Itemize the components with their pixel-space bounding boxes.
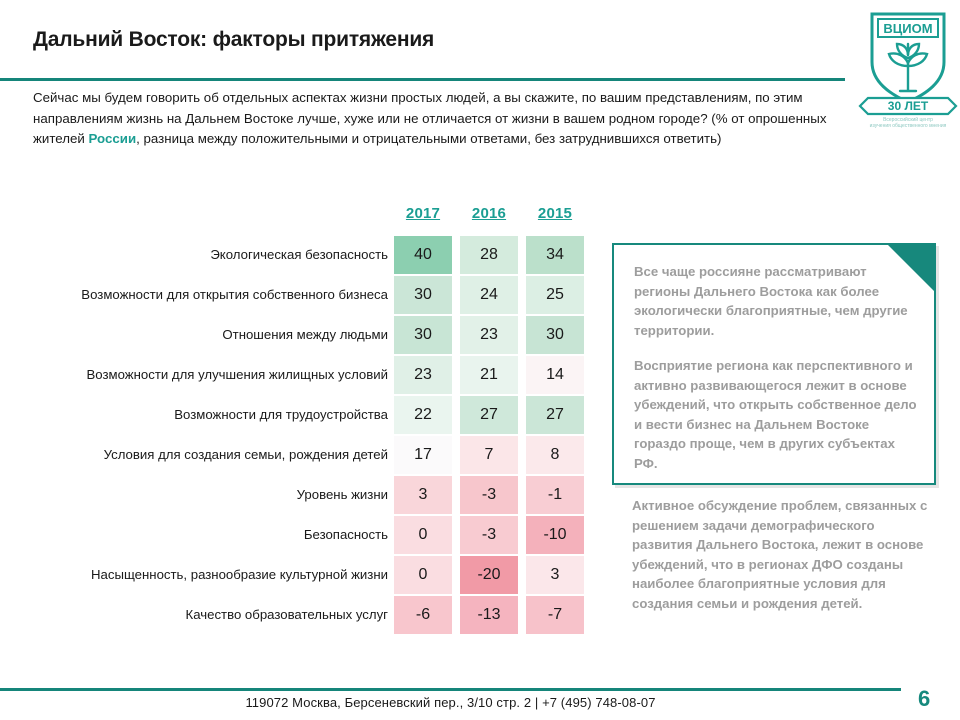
table-row: Уровень жизни3-3-1 [33, 475, 573, 515]
table-row-label: Безопасность [304, 515, 388, 555]
table-cell: 27 [460, 396, 518, 434]
subtitle-part2: , разница между положительными и отрицат… [136, 131, 721, 146]
table-cell: -3 [460, 516, 518, 554]
table-row-label: Уровень жизни [297, 475, 388, 515]
table-cell: -1 [526, 476, 584, 514]
vciom-logo: ВЦИОМ 30 ЛЕТ Всероссийский центр изучени… [858, 6, 958, 128]
table-cell: -7 [526, 596, 584, 634]
table-cell: 3 [394, 476, 452, 514]
insight-callout-box: Все чаще россияне рассматривают регионы … [612, 243, 936, 485]
table-row: Возможности для улучшения жилищных услов… [33, 355, 573, 395]
page-number: 6 [918, 686, 930, 712]
secondary-note-text: Активное обсуждение проблем, связанных с… [632, 496, 932, 613]
table-row-label: Возможности для трудоустройства [174, 395, 388, 435]
footer-divider [0, 688, 901, 691]
table-cell: -6 [394, 596, 452, 634]
table-cell: 3 [526, 556, 584, 594]
table-cell: 24 [460, 276, 518, 314]
table-cell: 21 [460, 356, 518, 394]
table-row-label: Качество образовательных услуг [186, 595, 388, 635]
table-cell: 23 [394, 356, 452, 394]
callout-paragraph: Восприятие региона как перспективного и … [634, 356, 920, 473]
table-cell: 34 [526, 236, 584, 274]
table-row: Возможности для трудоустройства222727 [33, 395, 573, 435]
table-row: Насыщенность, разнообразие культурной жи… [33, 555, 573, 595]
table-row: Качество образовательных услуг-6-13-7 [33, 595, 573, 635]
table-cell: 0 [394, 556, 452, 594]
table-cell: 28 [460, 236, 518, 274]
footer-contact: 119072 Москва, Берсеневский пер., 3/10 с… [0, 695, 901, 710]
table-row: Возможности для открытия собственного би… [33, 275, 573, 315]
table-cell: 30 [526, 316, 584, 354]
svg-text:изучения общественного мнения: изучения общественного мнения [870, 123, 947, 128]
table-cell: -13 [460, 596, 518, 634]
table-row-label: Возможности для открытия собственного би… [81, 275, 388, 315]
table-body: Экологическая безопасность402834Возможно… [33, 235, 573, 635]
svg-text:ВЦИОМ: ВЦИОМ [883, 21, 932, 36]
callout-paragraph: Все чаще россияне рассматривают регионы … [634, 262, 920, 340]
table-cell: 23 [460, 316, 518, 354]
page-title: Дальний Восток: факторы притяжения [33, 28, 434, 52]
svg-text:30 ЛЕТ: 30 ЛЕТ [888, 99, 929, 113]
table-row: Отношения между людьми302330 [33, 315, 573, 355]
table-row: Экологическая безопасность402834 [33, 235, 573, 275]
column-header-2017: 2017 [399, 205, 447, 222]
table-row: Условия для создания семьи, рождения дет… [33, 435, 573, 475]
table-cell: 14 [526, 356, 584, 394]
table-cell: 0 [394, 516, 452, 554]
table-row-label: Отношения между людьми [222, 315, 388, 355]
factors-table: 2017 2016 2015 Экологическая безопасност… [33, 205, 573, 635]
insight-callout-text: Все чаще россияне рассматривают регионы … [634, 262, 920, 473]
table-cell: 27 [526, 396, 584, 434]
table-row-label: Условия для создания семьи, рождения дет… [104, 435, 388, 475]
column-header-2015: 2015 [531, 205, 579, 222]
table-cell: 7 [460, 436, 518, 474]
table-row-label: Экологическая безопасность [210, 235, 388, 275]
svg-text:Всероссийский центр: Всероссийский центр [883, 116, 933, 123]
table-row-label: Насыщенность, разнообразие культурной жи… [91, 555, 388, 595]
table-cell: 40 [394, 236, 452, 274]
table-cell: -3 [460, 476, 518, 514]
table-cell: 17 [394, 436, 452, 474]
column-header-2016: 2016 [465, 205, 513, 222]
title-divider [0, 78, 845, 81]
table-column-headers: 2017 2016 2015 [33, 205, 573, 235]
table-row: Безопасность0-3-10 [33, 515, 573, 555]
table-cell: -10 [526, 516, 584, 554]
table-cell: 30 [394, 276, 452, 314]
subtitle-highlight: России [89, 131, 137, 146]
subtitle: Сейчас мы будем говорить об отдельных ас… [33, 88, 833, 150]
table-cell: 22 [394, 396, 452, 434]
table-cell: 25 [526, 276, 584, 314]
table-cell: -20 [460, 556, 518, 594]
table-cell: 30 [394, 316, 452, 354]
table-row-label: Возможности для улучшения жилищных услов… [87, 355, 388, 395]
table-cell: 8 [526, 436, 584, 474]
